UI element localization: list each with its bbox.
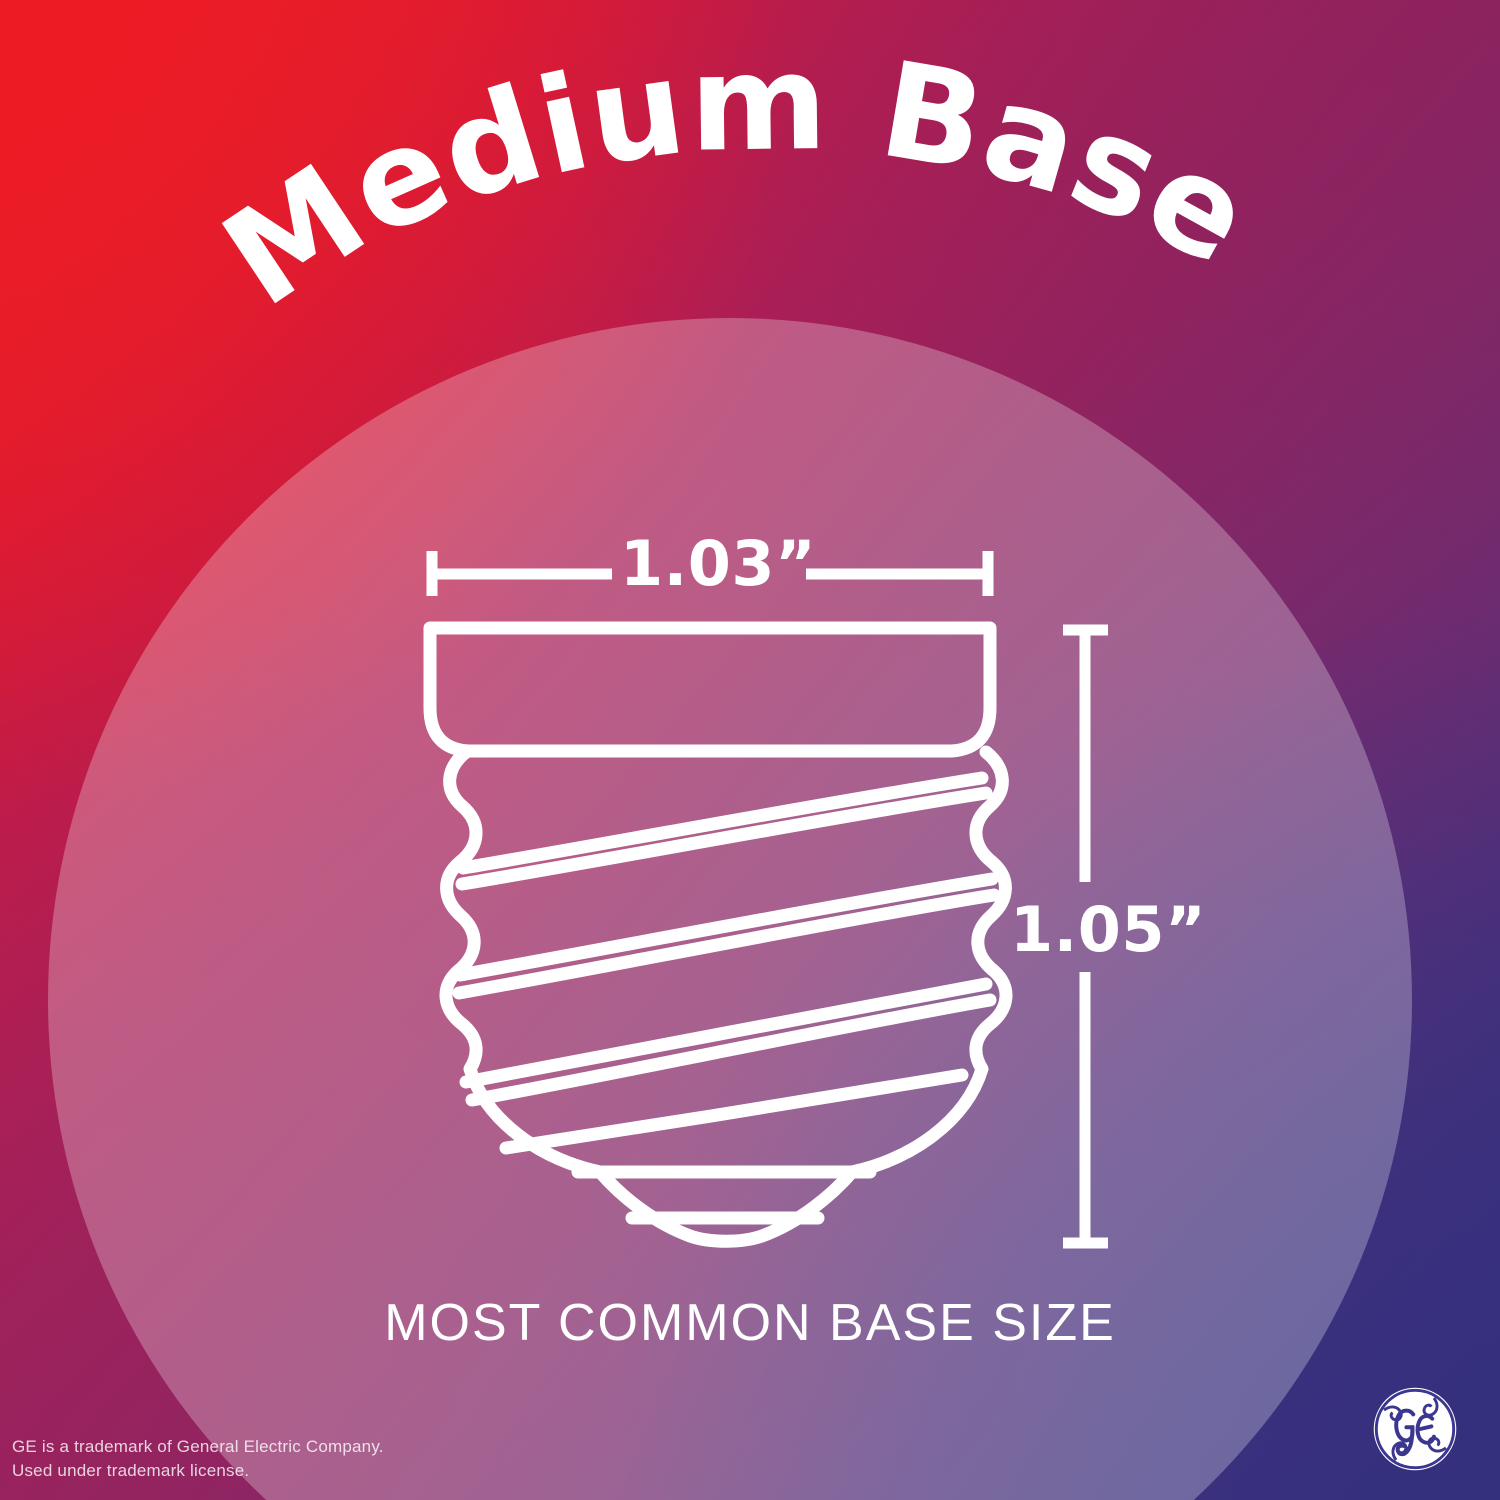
ge-logo-svg bbox=[1372, 1386, 1458, 1472]
ge-logo bbox=[1372, 1386, 1458, 1472]
caption-text: MOST COMMON BASE SIZE bbox=[0, 1293, 1500, 1353]
width-dimension-label: 1.03” bbox=[620, 527, 816, 600]
legal-line-1: GE is a trademark of General Electric Co… bbox=[12, 1435, 384, 1460]
bulb-base-svg bbox=[0, 0, 1500, 1500]
base-thread-lines bbox=[459, 778, 994, 1148]
legal-notice: GE is a trademark of General Electric Co… bbox=[12, 1435, 384, 1484]
product-infographic: Medium Base bbox=[0, 0, 1500, 1500]
base-collar bbox=[430, 628, 990, 751]
bulb-base-diagram bbox=[0, 0, 1500, 1500]
ge-logo-disc bbox=[1374, 1388, 1457, 1471]
height-dimension-label: 1.05” bbox=[1010, 893, 1206, 966]
legal-line-2: Used under trademark license. bbox=[12, 1459, 384, 1484]
